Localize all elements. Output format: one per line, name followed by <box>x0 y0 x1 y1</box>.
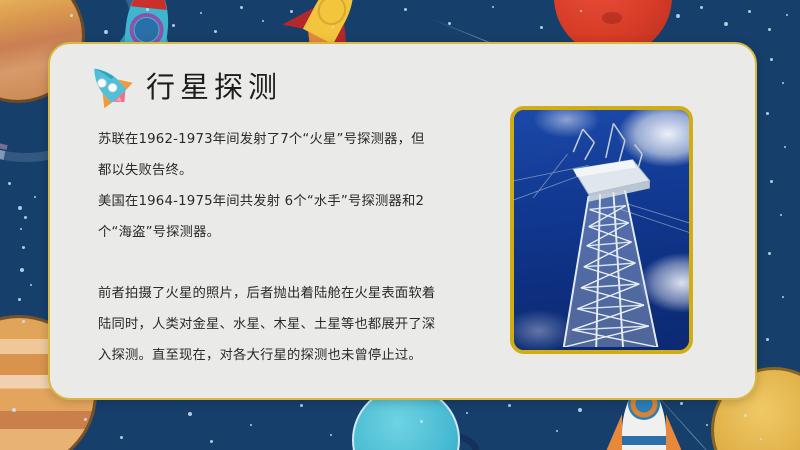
body-text: 苏联在1962-1973年间发射了7个“火星”号探测器，但 都以失败告终。 美国… <box>98 124 483 371</box>
body-line: 陆同时，人类对金星、水星、木星、土星等也都展开了深 <box>98 309 483 340</box>
rocket-icon <box>77 53 142 118</box>
photo-frame <box>510 106 693 354</box>
tower-photo <box>514 110 689 350</box>
body-line: 入探测。直至现在，对各大行星的探测也未曾停止过。 <box>98 340 483 371</box>
radio-tower-illustration <box>514 110 689 347</box>
body-line: 个“海盗”号探测器。 <box>98 217 483 248</box>
page-title: 行星探测 <box>146 64 282 106</box>
body-line: 前者拍摄了火星的照片，后者抛出着陆舱在火星表面软着 <box>98 278 483 309</box>
body-line: 苏联在1962-1973年间发射了7个“火星”号探测器，但 <box>98 124 483 155</box>
title-row: 行星探测 <box>86 62 282 108</box>
body-line: 美国在1964-1975年间共发射 6个“水手”号探测器和2 <box>98 186 483 217</box>
body-line: 都以失败告终。 <box>98 155 483 186</box>
content-card: 行星探测 苏联在1962-1973年间发射了7个“火星”号探测器，但 都以失败告… <box>48 42 757 400</box>
